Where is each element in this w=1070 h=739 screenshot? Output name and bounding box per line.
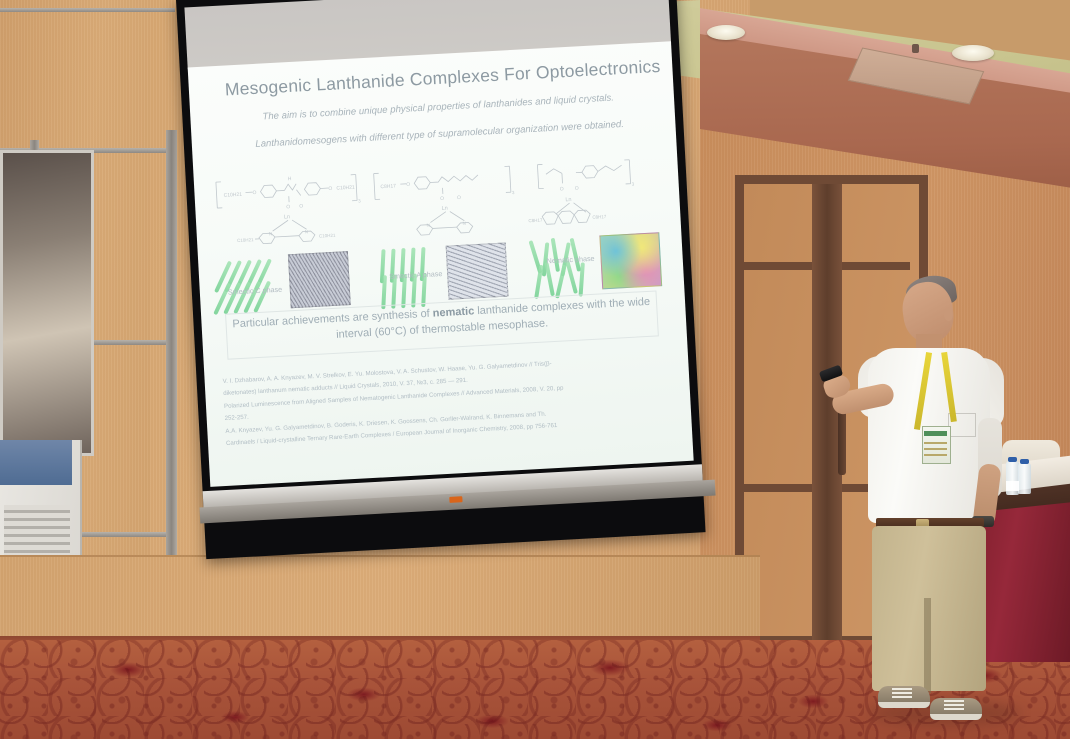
ceiling-light-icon [707,25,745,40]
references-block: V. I. Dzhabarov, A. A. Knyazev, M. V. St… [222,352,677,451]
svg-text:C10H21: C10H21 [223,192,242,199]
slide-subtitle-line-2: Lanthanidomesogens with different type o… [240,117,640,153]
svg-text:O: O [299,203,303,209]
chemical-structure-icon: C10H21 O H O O O C10H21 3 Ln [211,166,365,252]
svg-text:N: N [462,221,466,226]
svg-text:H: H [288,176,292,182]
ceiling-light-icon [952,45,994,61]
badge-text-line [924,442,947,444]
achievement-highlight: nematic [432,305,474,319]
presentation-slide: Mesogenic Lanthanide Complexes For Optoe… [188,41,694,487]
svg-text:O: O [457,195,461,201]
svg-text:O: O [286,204,290,210]
svg-text:O: O [440,196,444,202]
molecule-diagram-smectic-c: C10H21 O H O O O C10H21 3 Ln [211,166,365,252]
nematic-micrograph [599,232,662,289]
svg-text:N: N [305,229,309,234]
shoe-laces [944,700,964,712]
sprinkler-icon [912,44,919,53]
molecule-diagram-nematic: O O 3 Ln C8H17 C8H17 [523,147,677,233]
conference-room-photo: Mesogenic Lanthanide Complexes For Optoe… [0,0,1070,739]
svg-text:C8H17: C8H17 [592,214,607,220]
svg-text:3: 3 [358,198,361,203]
svg-text:3: 3 [512,190,515,195]
ear [944,308,953,321]
svg-text:C8H17: C8H17 [380,183,396,190]
window-panel [0,150,94,456]
smectic-c-micrograph [288,251,351,308]
ac-display-panel [0,440,72,485]
svg-text:O: O [560,186,564,192]
svg-text:O: O [406,182,410,188]
svg-text:Ln: Ln [565,197,571,203]
wall-trim [0,8,175,12]
svg-text:3: 3 [631,181,634,186]
leg-separation [924,598,931,693]
projection-screen: Mesogenic Lanthanide Complexes For Optoe… [176,0,726,577]
svg-text:C8H17: C8H17 [528,217,543,223]
shoe-laces [892,688,912,700]
chemical-structure-icon: O O 3 Ln C8H17 C8H17 [523,147,677,233]
badge-text-line [924,448,947,450]
shoe-sole [878,702,930,708]
svg-text:O: O [328,186,332,192]
screen-brand-logo [449,496,462,503]
svg-text:C10H21: C10H21 [336,185,355,192]
badge-header [924,431,947,436]
molecule-diagram-smectic-a: C8H17 O O O 3 Ln N N [369,158,523,244]
svg-text:O: O [575,185,579,191]
presenter [820,268,1060,739]
smectic-c-rods-illustration [218,255,283,312]
svg-text:Ln: Ln [442,206,448,212]
shoe-sole [930,714,982,720]
svg-text:O: O [252,190,256,196]
svg-text:Ln: Ln [284,214,290,220]
svg-text:C10H21: C10H21 [237,237,254,243]
svg-text:C10H21: C10H21 [319,233,336,239]
badge-text-line [924,454,947,456]
chemical-structure-icon: C8H17 O O O 3 Ln N N [369,158,523,244]
smectic-a-micrograph [446,243,509,300]
